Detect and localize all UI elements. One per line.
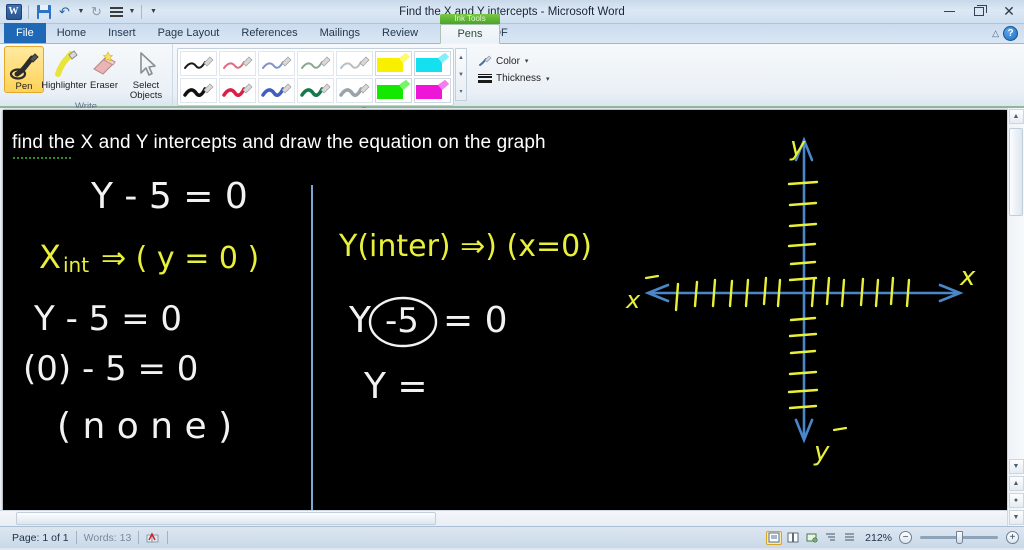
tab-pens[interactable]: Pens: [440, 24, 500, 44]
ink-equation-7: Y -5 = 0: [343, 288, 583, 350]
pen-swatch-black-thick[interactable]: [180, 78, 217, 103]
svg-text:x: x: [959, 262, 976, 292]
pens-gallery-row: [180, 51, 451, 76]
full-screen-reading-view-button[interactable]: [785, 531, 801, 545]
status-divider-3: [167, 531, 168, 544]
quick-access-toolbar: W ↶ ▼ ↻ ▼ ▼: [0, 0, 159, 23]
eraser-button-label: Eraser: [90, 81, 118, 91]
zoom-out-button[interactable]: −: [899, 531, 912, 544]
ribbon-filler: [603, 44, 1024, 106]
minimize-button[interactable]: [934, 1, 964, 23]
tab-review[interactable]: Review: [371, 23, 429, 43]
pens-group-body: ▲ ▼ ▾ Color ▾ Thickness ▾: [177, 46, 599, 106]
svg-text:= 0: = 0: [443, 300, 508, 341]
draft-view-button[interactable]: [842, 531, 858, 545]
pen-options: Color ▾ Thickness ▾: [467, 48, 553, 85]
vertical-scrollbar[interactable]: ▲ ▼ ▲ ● ▼: [1007, 108, 1024, 526]
ink-divider-line: [311, 185, 313, 515]
svg-text:Y(inter) ⇒) (x=0): Y(inter) ⇒) (x=0): [338, 229, 592, 264]
tab-references[interactable]: References: [230, 23, 308, 43]
ink-equation-1: Y - 5 = 0: [83, 170, 303, 222]
zoom-slider[interactable]: [920, 536, 998, 539]
contextual-tab-header: Ink Tools: [440, 14, 500, 24]
pen-swatch-gray-thick[interactable]: [336, 78, 373, 103]
word-logo: W: [6, 4, 22, 20]
page-title: find the X and Y intercepts and draw the…: [12, 132, 546, 154]
document-page[interactable]: find the X and Y intercepts and draw the…: [3, 110, 1007, 522]
tab-insert[interactable]: Insert: [97, 23, 147, 43]
write-group-body: Pen Highlighter: [4, 46, 168, 101]
status-bar: Page: 1 of 1 Words: 13 212% − +: [0, 526, 1024, 548]
proofing-errors-icon: [146, 532, 160, 544]
ink-graph: y x x y x y x⁻ y⁻: [608, 120, 1003, 470]
window-controls: ✕: [934, 0, 1024, 23]
ribbon: Pen Highlighter: [0, 44, 1024, 108]
tab-file[interactable]: File: [4, 23, 46, 43]
highlighter-swatch-magenta[interactable]: [414, 78, 451, 103]
chevron-down-icon: ▾: [546, 75, 550, 83]
pen-swatch-red-thin[interactable]: [219, 51, 256, 76]
chevron-down-icon: ▼: [150, 8, 157, 15]
svg-text:y: y: [789, 132, 806, 162]
pens-gallery-row-2: [180, 78, 451, 103]
svg-text:(0) - 5 = 0: (0) - 5 = 0: [23, 349, 198, 389]
scroll-down-button[interactable]: ▼: [1009, 459, 1024, 474]
gallery-scroll-down-button[interactable]: ▼: [456, 66, 466, 83]
svg-text:y: y: [813, 437, 830, 467]
pens-gallery: [177, 48, 454, 106]
gallery-scrollbar[interactable]: ▲ ▼ ▾: [455, 48, 467, 101]
select-objects-button[interactable]: Select Objects: [124, 46, 168, 101]
outline-view-button[interactable]: [823, 531, 839, 545]
restore-button[interactable]: [964, 1, 994, 23]
chevron-down-icon: ▼: [129, 8, 136, 15]
redo-button[interactable]: ↻: [87, 2, 106, 21]
print-dropdown[interactable]: ▼: [127, 2, 136, 21]
menu-lines-icon: [110, 7, 123, 17]
highlighter-button[interactable]: Highlighter: [44, 46, 84, 91]
svg-text:X: X: [39, 238, 61, 276]
color-button[interactable]: Color ▾: [475, 54, 553, 68]
tab-home[interactable]: Home: [46, 23, 97, 43]
pen-color-icon: [478, 55, 492, 67]
ink-equation-8: Y =: [358, 360, 518, 412]
thickness-lines-icon: [478, 73, 492, 84]
vertical-scroll-thumb[interactable]: [1009, 128, 1023, 216]
help-icon[interactable]: ?: [1003, 26, 1018, 41]
collapse-ribbon-icon[interactable]: △: [992, 28, 999, 39]
proofing-status-button[interactable]: [139, 532, 167, 544]
spelling-underline: [13, 157, 71, 159]
gallery-scroll-up-button[interactable]: ▲: [456, 49, 466, 66]
thickness-button-label: Thickness: [496, 73, 541, 84]
pen-icon: [7, 50, 41, 80]
print-layout-view-button[interactable]: [766, 531, 782, 545]
close-button[interactable]: ✕: [994, 1, 1024, 23]
tab-mailings[interactable]: Mailings: [309, 23, 371, 43]
undo-dropdown[interactable]: ▼: [76, 2, 85, 21]
save-icon: [37, 5, 51, 19]
tab-page-layout[interactable]: Page Layout: [147, 23, 231, 43]
eraser-icon: [87, 49, 121, 79]
page-indicator[interactable]: Page: 1 of 1: [5, 532, 76, 544]
undo-icon: ↶: [59, 5, 70, 18]
cursor-arrow-icon: [129, 49, 163, 79]
gallery-more-button[interactable]: ▾: [456, 83, 466, 100]
web-layout-view-button[interactable]: [804, 531, 820, 545]
pen-swatch-gray-thin[interactable]: [336, 51, 373, 76]
eraser-button[interactable]: Eraser: [84, 46, 124, 91]
ribbon-group-write: Pen Highlighter: [0, 44, 172, 106]
ribbon-group-pens: ▲ ▼ ▾ Color ▾ Thickness ▾ Pens: [172, 44, 603, 106]
redo-icon: ↻: [91, 5, 102, 18]
select-objects-button-label: Select Objects: [125, 81, 167, 101]
ink-equation-2: X int ⇒ ( y = 0 ): [33, 230, 293, 282]
horizontal-scrollbar[interactable]: [0, 510, 1007, 526]
title-bar: W ↶ ▼ ↻ ▼ ▼ Find the X and Y intercepts …: [0, 0, 1024, 24]
status-right-controls: 212% − +: [766, 531, 1019, 545]
pen-swatch-green-thick[interactable]: [297, 78, 334, 103]
svg-text:Y =: Y =: [363, 366, 428, 407]
close-icon: ✕: [1003, 3, 1015, 20]
pen-swatch-black-thin[interactable]: [180, 51, 217, 76]
minimize-icon: [944, 11, 955, 12]
pen-button[interactable]: Pen: [4, 46, 44, 93]
restore-icon: [974, 7, 984, 16]
svg-text:Y - 5 = 0: Y - 5 = 0: [90, 176, 248, 217]
svg-text:Y - 5 = 0: Y - 5 = 0: [33, 299, 182, 339]
select-browse-object-button[interactable]: ●: [1009, 493, 1024, 508]
zoom-slider-thumb[interactable]: [956, 531, 963, 544]
next-page-button[interactable]: ▼: [1009, 510, 1024, 525]
highlighter-swatch-green[interactable]: [375, 78, 412, 103]
zoom-in-button[interactable]: +: [1006, 531, 1019, 544]
thickness-button[interactable]: Thickness ▾: [475, 72, 553, 85]
ink-equation-3: Y - 5 = 0: [28, 292, 268, 344]
customize-qat-button[interactable]: ▼: [147, 2, 159, 21]
zoom-level[interactable]: 212%: [861, 532, 896, 544]
highlighter-icon: [47, 49, 81, 79]
chevron-down-icon: ▾: [525, 57, 529, 65]
ribbon-tabs: File Home Insert Page Layout References …: [0, 24, 1024, 44]
highlighter-button-label: Highlighter: [41, 81, 86, 91]
highlighter-swatch-yellow[interactable]: [375, 51, 412, 76]
highlighter-swatch-cyan[interactable]: [414, 51, 451, 76]
ink-equation-4: (0) - 5 = 0: [17, 342, 277, 394]
ink-equation-5: ( n o n e ): [51, 398, 291, 454]
qat-separator-2: [141, 5, 142, 19]
contextual-tab-group: Ink Tools Pens: [440, 14, 500, 44]
document-area: find the X and Y intercepts and draw the…: [0, 108, 1024, 526]
pen-swatch-blue-thick[interactable]: [258, 78, 295, 103]
word-count[interactable]: Words: 13: [77, 532, 139, 544]
save-button[interactable]: [34, 2, 53, 21]
chevron-down-icon: ▼: [78, 8, 85, 15]
scroll-up-button[interactable]: ▲: [1009, 109, 1024, 124]
svg-text:( n o n e ): ( n o n e ): [57, 406, 232, 447]
horizontal-scroll-thumb[interactable]: [16, 512, 436, 525]
pen-swatch-red-thick[interactable]: [219, 78, 256, 103]
pen-button-label: Pen: [16, 82, 33, 92]
svg-text:x: x: [625, 286, 641, 314]
svg-text:Y: Y: [348, 300, 372, 341]
previous-page-button[interactable]: ▲: [1009, 476, 1024, 491]
pen-swatch-green-thin[interactable]: [297, 51, 334, 76]
undo-button[interactable]: ↶: [55, 2, 74, 21]
ink-equation-6: Y(inter) ⇒) (x=0): [333, 218, 593, 272]
svg-text:int: int: [63, 253, 89, 277]
pen-swatch-blue-thin[interactable]: [258, 51, 295, 76]
word-app-icon[interactable]: W: [4, 2, 23, 21]
qat-separator: [28, 5, 29, 19]
quick-print-button[interactable]: [108, 2, 125, 21]
color-button-label: Color: [496, 56, 520, 67]
svg-text:-5: -5: [385, 301, 419, 341]
svg-text:⇒ ( y = 0 ): ⇒ ( y = 0 ): [101, 241, 259, 276]
ribbon-right-controls: △ ?: [992, 24, 1024, 43]
